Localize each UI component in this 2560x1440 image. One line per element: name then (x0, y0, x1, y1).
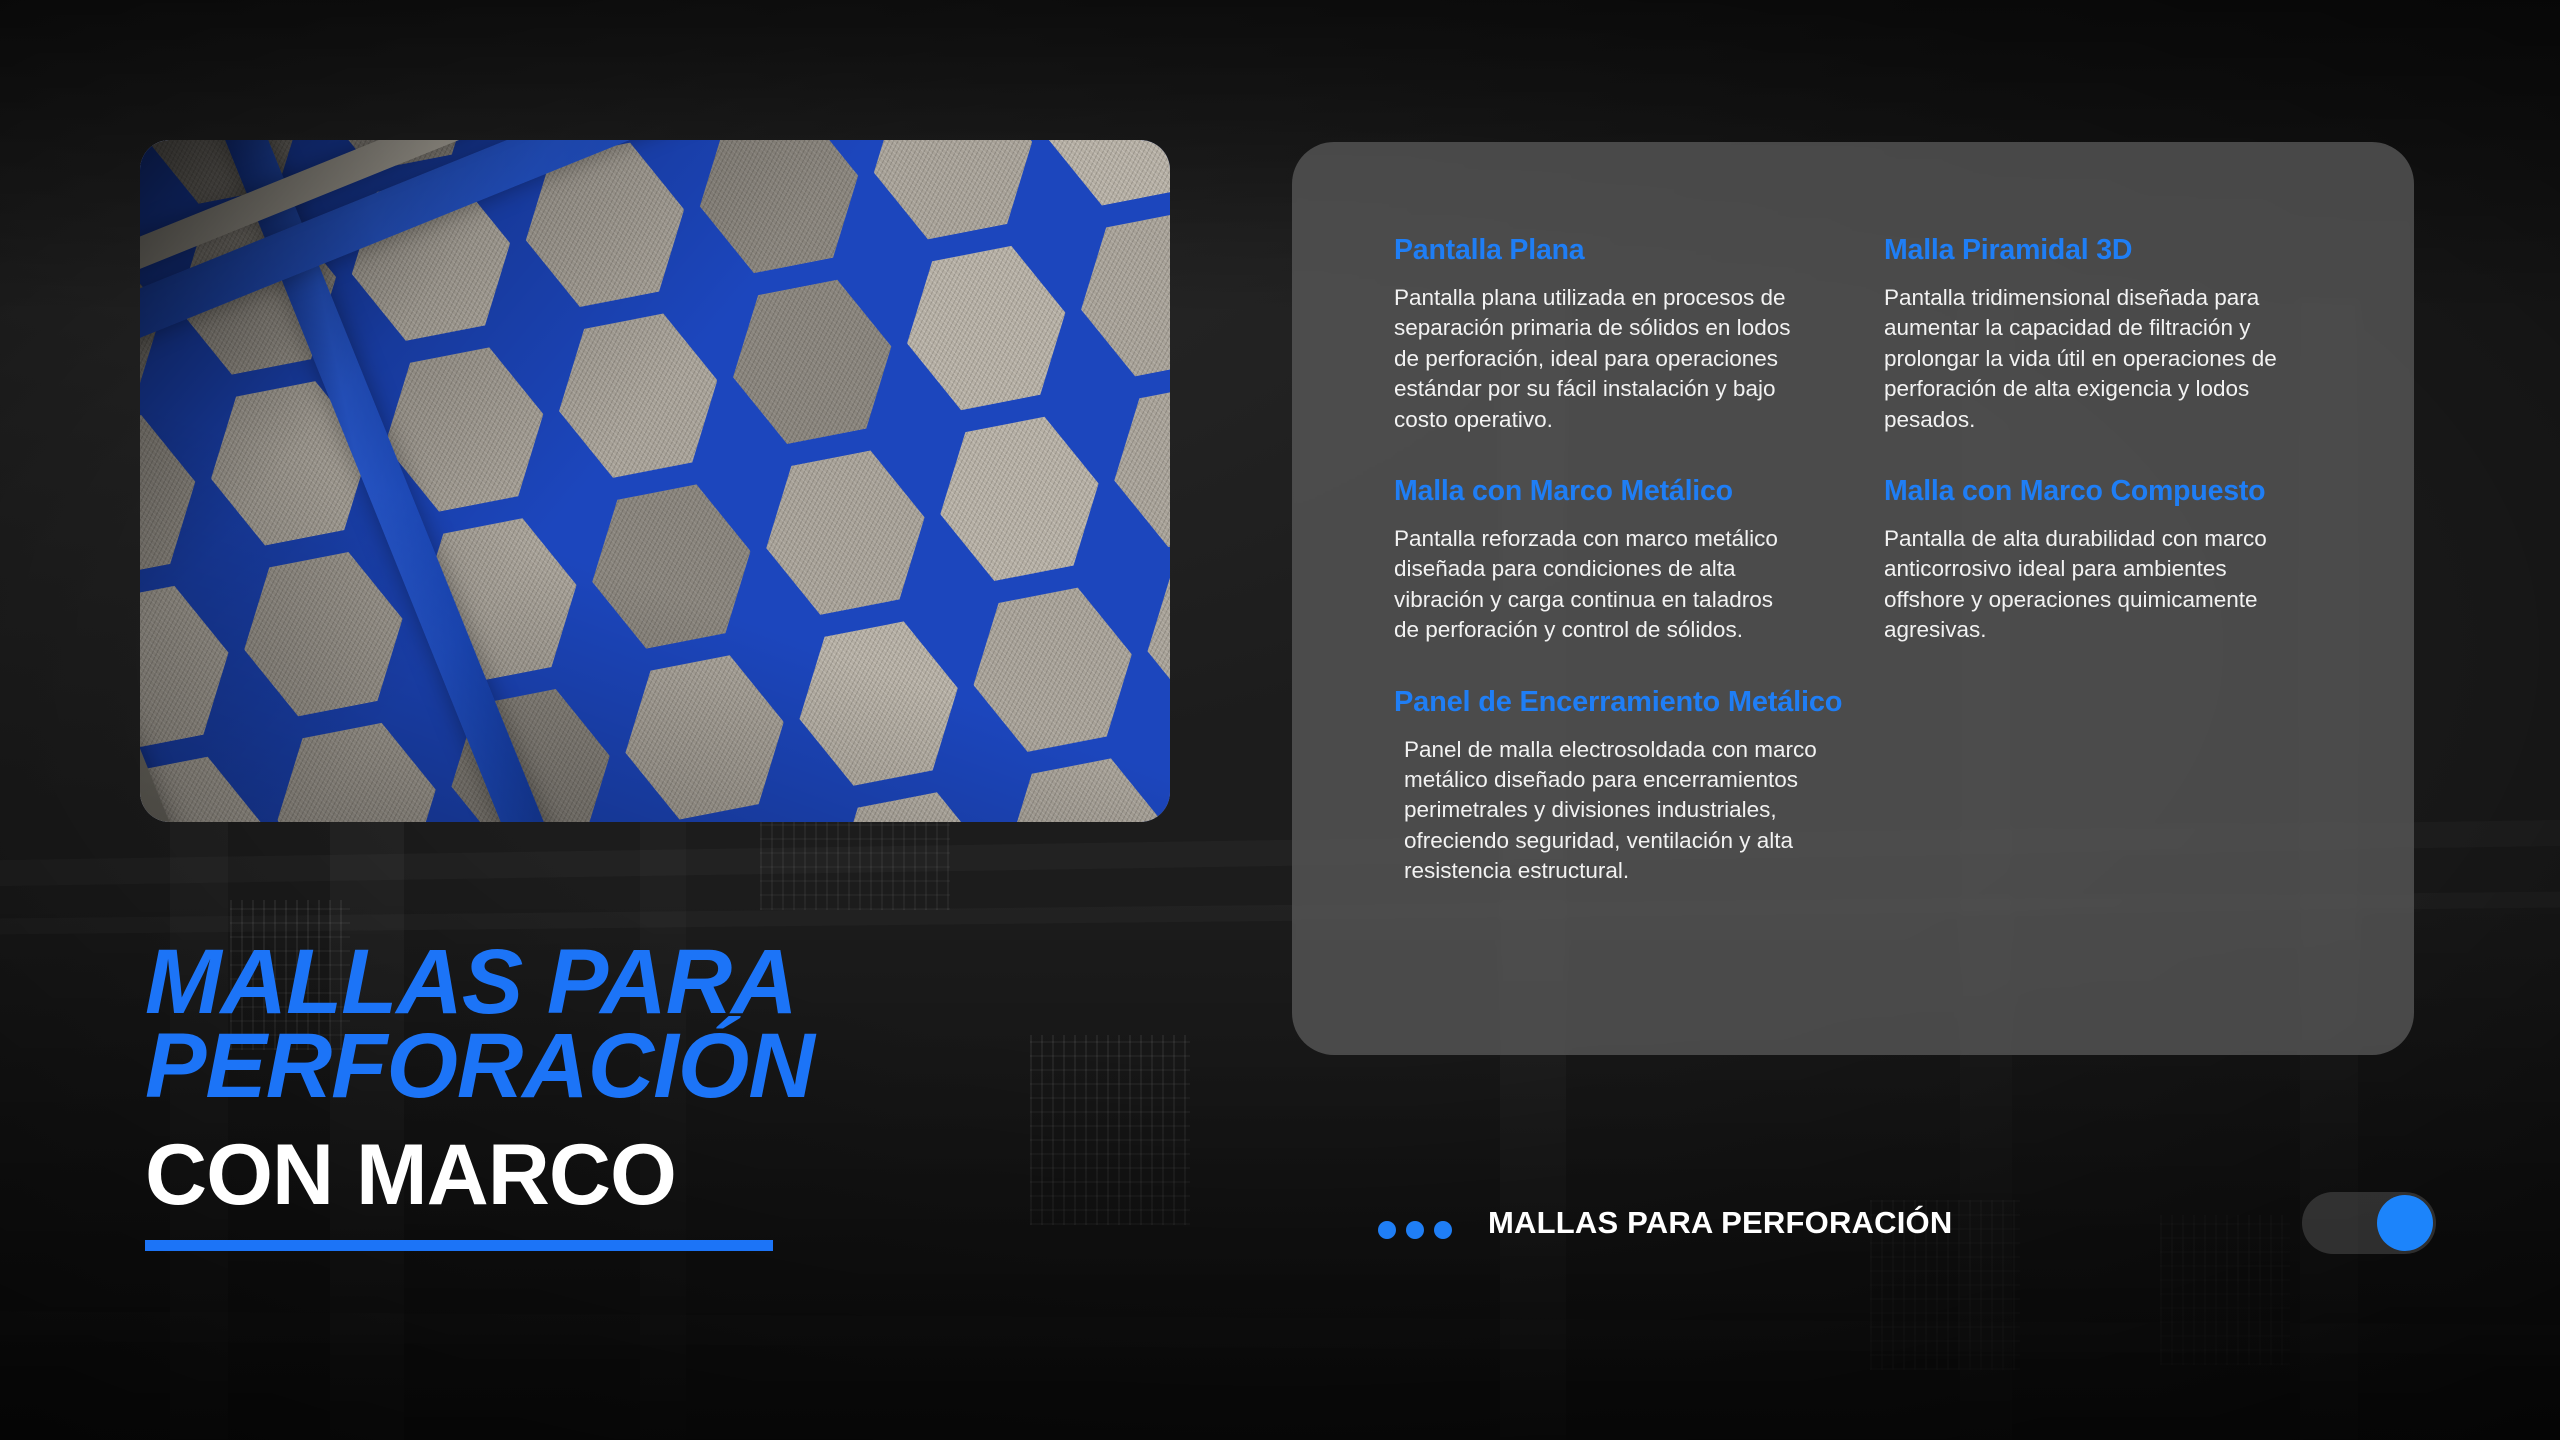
headline-block: MALLAS PARA PERFORACIÓN CON MARCO (145, 940, 814, 1251)
dot-icon (1378, 1221, 1396, 1239)
footer-toggle-switch[interactable] (2302, 1192, 2436, 1254)
info-card-pantalla-plana: Pantalla Plana Pantalla plana utilizada … (1394, 234, 1844, 435)
headline-underline (145, 1240, 773, 1251)
card-title: Malla Piramidal 3D (1884, 234, 2334, 267)
card-title: Panel de Encerramiento Metálico (1394, 686, 2334, 719)
card-body: Panel de malla electrosoldada con marco … (1394, 735, 1864, 887)
info-card-malla-marco-metalico: Malla con Marco Metálico Pantalla reforz… (1394, 475, 1844, 646)
product-photo (140, 140, 1170, 822)
dot-icon (1406, 1221, 1424, 1239)
card-body: Pantalla reforzada con marco metálico di… (1394, 524, 1794, 646)
headline-line-1: MALLAS PARA (145, 940, 814, 1024)
toggle-knob[interactable] (2377, 1195, 2433, 1251)
card-body: Pantalla tridimensional diseñada para au… (1884, 283, 2284, 435)
info-card-grid: Pantalla Plana Pantalla plana utilizada … (1394, 234, 2334, 887)
footer-label: MALLAS PARA PERFORACIÓN (1488, 1205, 1952, 1241)
card-title: Pantalla Plana (1394, 234, 1844, 267)
info-panel: Pantalla Plana Pantalla plana utilizada … (1292, 142, 2414, 1055)
card-title: Malla con Marco Compuesto (1884, 475, 2334, 508)
headline-line-2: PERFORACIÓN (145, 1024, 814, 1108)
card-body: Pantalla de alta durabilidad con marco a… (1884, 524, 2284, 646)
info-card-malla-piramidal-3d: Malla Piramidal 3D Pantalla tridimension… (1884, 234, 2334, 435)
footer-dots (1378, 1221, 1452, 1239)
info-card-panel-encerramiento-metalico: Panel de Encerramiento Metálico Panel de… (1394, 686, 2334, 887)
dot-icon (1434, 1221, 1452, 1239)
photo-shading (140, 140, 1170, 822)
card-title: Malla con Marco Metálico (1394, 475, 1844, 508)
info-card-malla-marco-compuesto: Malla con Marco Compuesto Pantalla de al… (1884, 475, 2334, 646)
headline-line-3: CON MARCO (145, 1132, 814, 1218)
slide-root: Pantalla Plana Pantalla plana utilizada … (0, 0, 2560, 1440)
card-body: Pantalla plana utilizada en procesos de … (1394, 283, 1794, 435)
